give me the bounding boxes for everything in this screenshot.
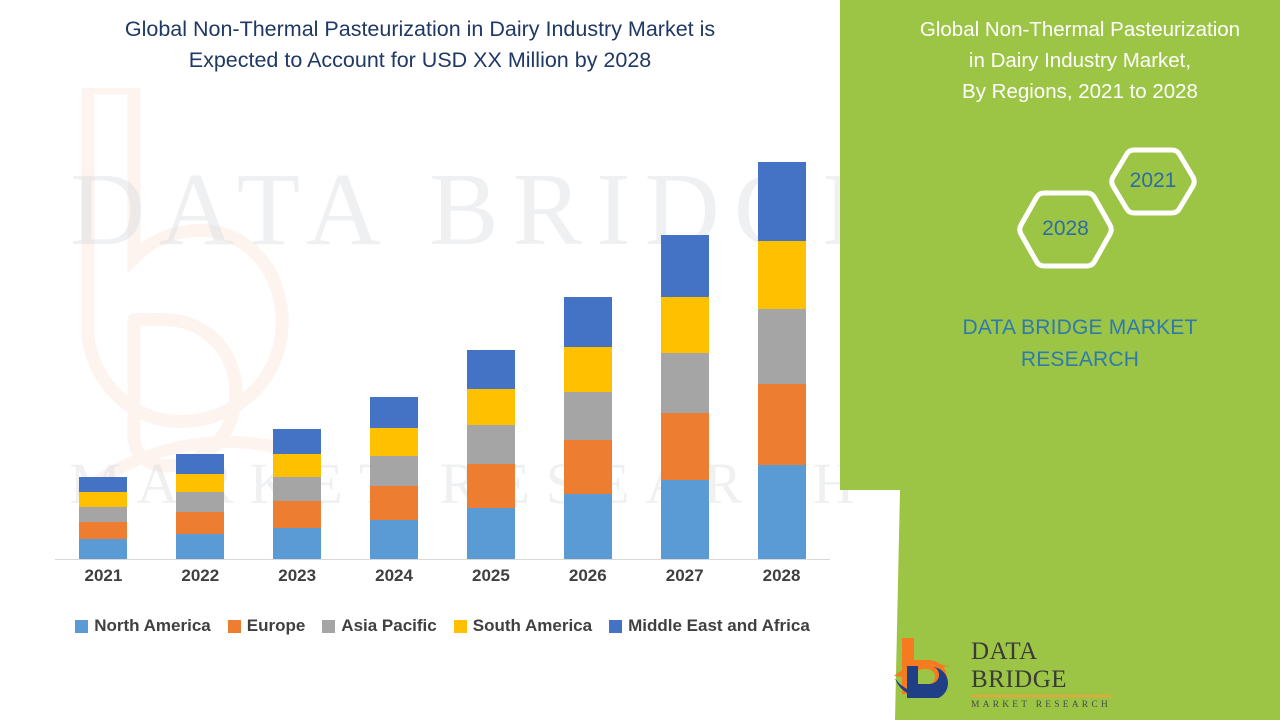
bar-segment[interactable] [467,508,515,559]
panel-brand-line-2: RESEARCH [910,344,1250,376]
legend-item[interactable]: Middle East and Africa [609,616,810,636]
legend-label: Europe [247,616,306,636]
bar-segment[interactable] [273,528,321,559]
chart-plot-area [55,110,830,560]
bar-segment[interactable] [79,522,127,540]
panel-title-line-1: Global Non-Thermal Pasteurization [880,14,1280,45]
bar-segment[interactable] [758,162,806,241]
stacked-bar-2025[interactable] [467,350,515,559]
x-axis-label: 2023 [250,566,345,586]
data-bridge-logo: DATA BRIDGE MARKET RESEARCH [893,636,1108,698]
legend-item[interactable]: Asia Pacific [322,616,436,636]
x-axis-label: 2021 [56,566,151,586]
bar-segment[interactable] [273,429,321,454]
bar-segment[interactable] [79,507,127,522]
legend-label: Asia Pacific [341,616,436,636]
bar-column [56,110,151,559]
bar-segment[interactable] [273,454,321,477]
stacked-bar-2027[interactable] [661,235,709,559]
x-axis-tick-labels: 20212022202320242025202620272028 [55,566,830,586]
bar-segment[interactable] [370,520,418,559]
bar-segment[interactable] [370,428,418,456]
bar-segment[interactable] [564,440,612,495]
stacked-bar-2022[interactable] [176,454,224,559]
data-bridge-logo-icon [893,636,963,698]
logo-subtitle: MARKET RESEARCH [971,699,1111,711]
bar-column [637,110,732,559]
bar-segment[interactable] [467,350,515,389]
hexagon-badge-2021: 2021 [1107,145,1199,245]
legend-item[interactable]: South America [454,616,592,636]
bar-segment[interactable] [564,347,612,392]
bar-group [55,110,830,559]
bar-segment[interactable] [467,464,515,508]
panel-title-line-2: in Dairy Industry Market, [880,45,1280,76]
panel-title-line-3: By Regions, 2021 to 2028 [880,76,1280,107]
bar-segment[interactable] [758,465,806,559]
bar-segment[interactable] [661,297,709,353]
chart-title-line-2: Expected to Account for USD XX Million b… [40,45,800,76]
bar-column [347,110,442,559]
legend-label: South America [473,616,592,636]
chart-title-line-1: Global Non-Thermal Pasteurization in Dai… [40,14,800,45]
bar-segment[interactable] [467,389,515,425]
bar-segment[interactable] [564,494,612,559]
bar-segment[interactable] [661,413,709,480]
hexagon-badge-2028-label: 2028 [1013,217,1118,241]
legend-swatch-icon [609,620,622,633]
bar-segment[interactable] [370,486,418,520]
legend-label: Middle East and Africa [628,616,810,636]
hexagon-outline-icon [1107,145,1199,245]
panel-brand-text: DATA BRIDGE MARKET RESEARCH [910,312,1250,376]
stacked-bar-2028[interactable] [758,162,806,559]
bar-segment[interactable] [370,456,418,486]
legend-item[interactable]: North America [75,616,211,636]
bar-segment[interactable] [79,539,127,559]
bar-segment[interactable] [176,454,224,474]
bar-column [443,110,538,559]
panel-title: Global Non-Thermal Pasteurization in Dai… [880,14,1280,107]
chart-title: Global Non-Thermal Pasteurization in Dai… [40,14,800,76]
legend-swatch-icon [228,620,241,633]
x-axis-label: 2025 [443,566,538,586]
bar-segment[interactable] [661,480,709,559]
x-axis-label: 2026 [540,566,635,586]
bar-segment[interactable] [176,492,224,512]
legend-swatch-icon [454,620,467,633]
chart-legend: North AmericaEuropeAsia PacificSouth Ame… [55,616,830,636]
slide-canvas: DATA BRIDGE MARKET RESEARCH Global Non-T… [0,0,1280,720]
legend-item[interactable]: Europe [228,616,306,636]
hexagon-badge-2021-label: 2021 [1107,169,1199,193]
legend-swatch-icon [322,620,335,633]
logo-wordmark: DATA BRIDGE MARKET RESEARCH [971,638,1111,711]
panel-brand-line-1: DATA BRIDGE MARKET [910,312,1250,344]
x-axis-label: 2022 [153,566,248,586]
stacked-bar-2024[interactable] [370,397,418,559]
x-axis-label: 2027 [637,566,732,586]
bar-segment[interactable] [467,425,515,463]
bar-segment[interactable] [564,297,612,346]
bar-segment[interactable] [273,501,321,528]
stacked-bar-2026[interactable] [564,297,612,559]
logo-divider [971,695,1111,697]
bar-segment[interactable] [661,235,709,297]
bar-segment[interactable] [564,392,612,440]
bar-segment[interactable] [176,512,224,534]
bar-segment[interactable] [273,477,321,501]
bar-segment[interactable] [661,353,709,413]
bar-column [734,110,829,559]
bar-segment[interactable] [370,397,418,428]
bar-segment[interactable] [79,477,127,492]
bar-segment[interactable] [758,309,806,383]
hexagon-badge-2028: 2028 [1013,188,1118,293]
bar-segment[interactable] [176,474,224,493]
legend-label: North America [94,616,211,636]
x-axis-label: 2024 [347,566,442,586]
x-axis-label: 2028 [734,566,829,586]
bar-segment[interactable] [758,384,806,465]
bar-column [540,110,635,559]
bar-column [153,110,248,559]
stacked-bar-2023[interactable] [273,429,321,559]
category-axis-line [55,559,830,560]
bar-segment[interactable] [758,241,806,310]
stacked-bar-2021[interactable] [79,477,127,559]
legend-swatch-icon [75,620,88,633]
hexagon-badges: 2021 2028 [1005,145,1205,290]
bar-column [250,110,345,559]
bar-segment[interactable] [176,534,224,559]
logo-title: DATA BRIDGE [971,638,1111,694]
bar-segment[interactable] [79,492,127,506]
